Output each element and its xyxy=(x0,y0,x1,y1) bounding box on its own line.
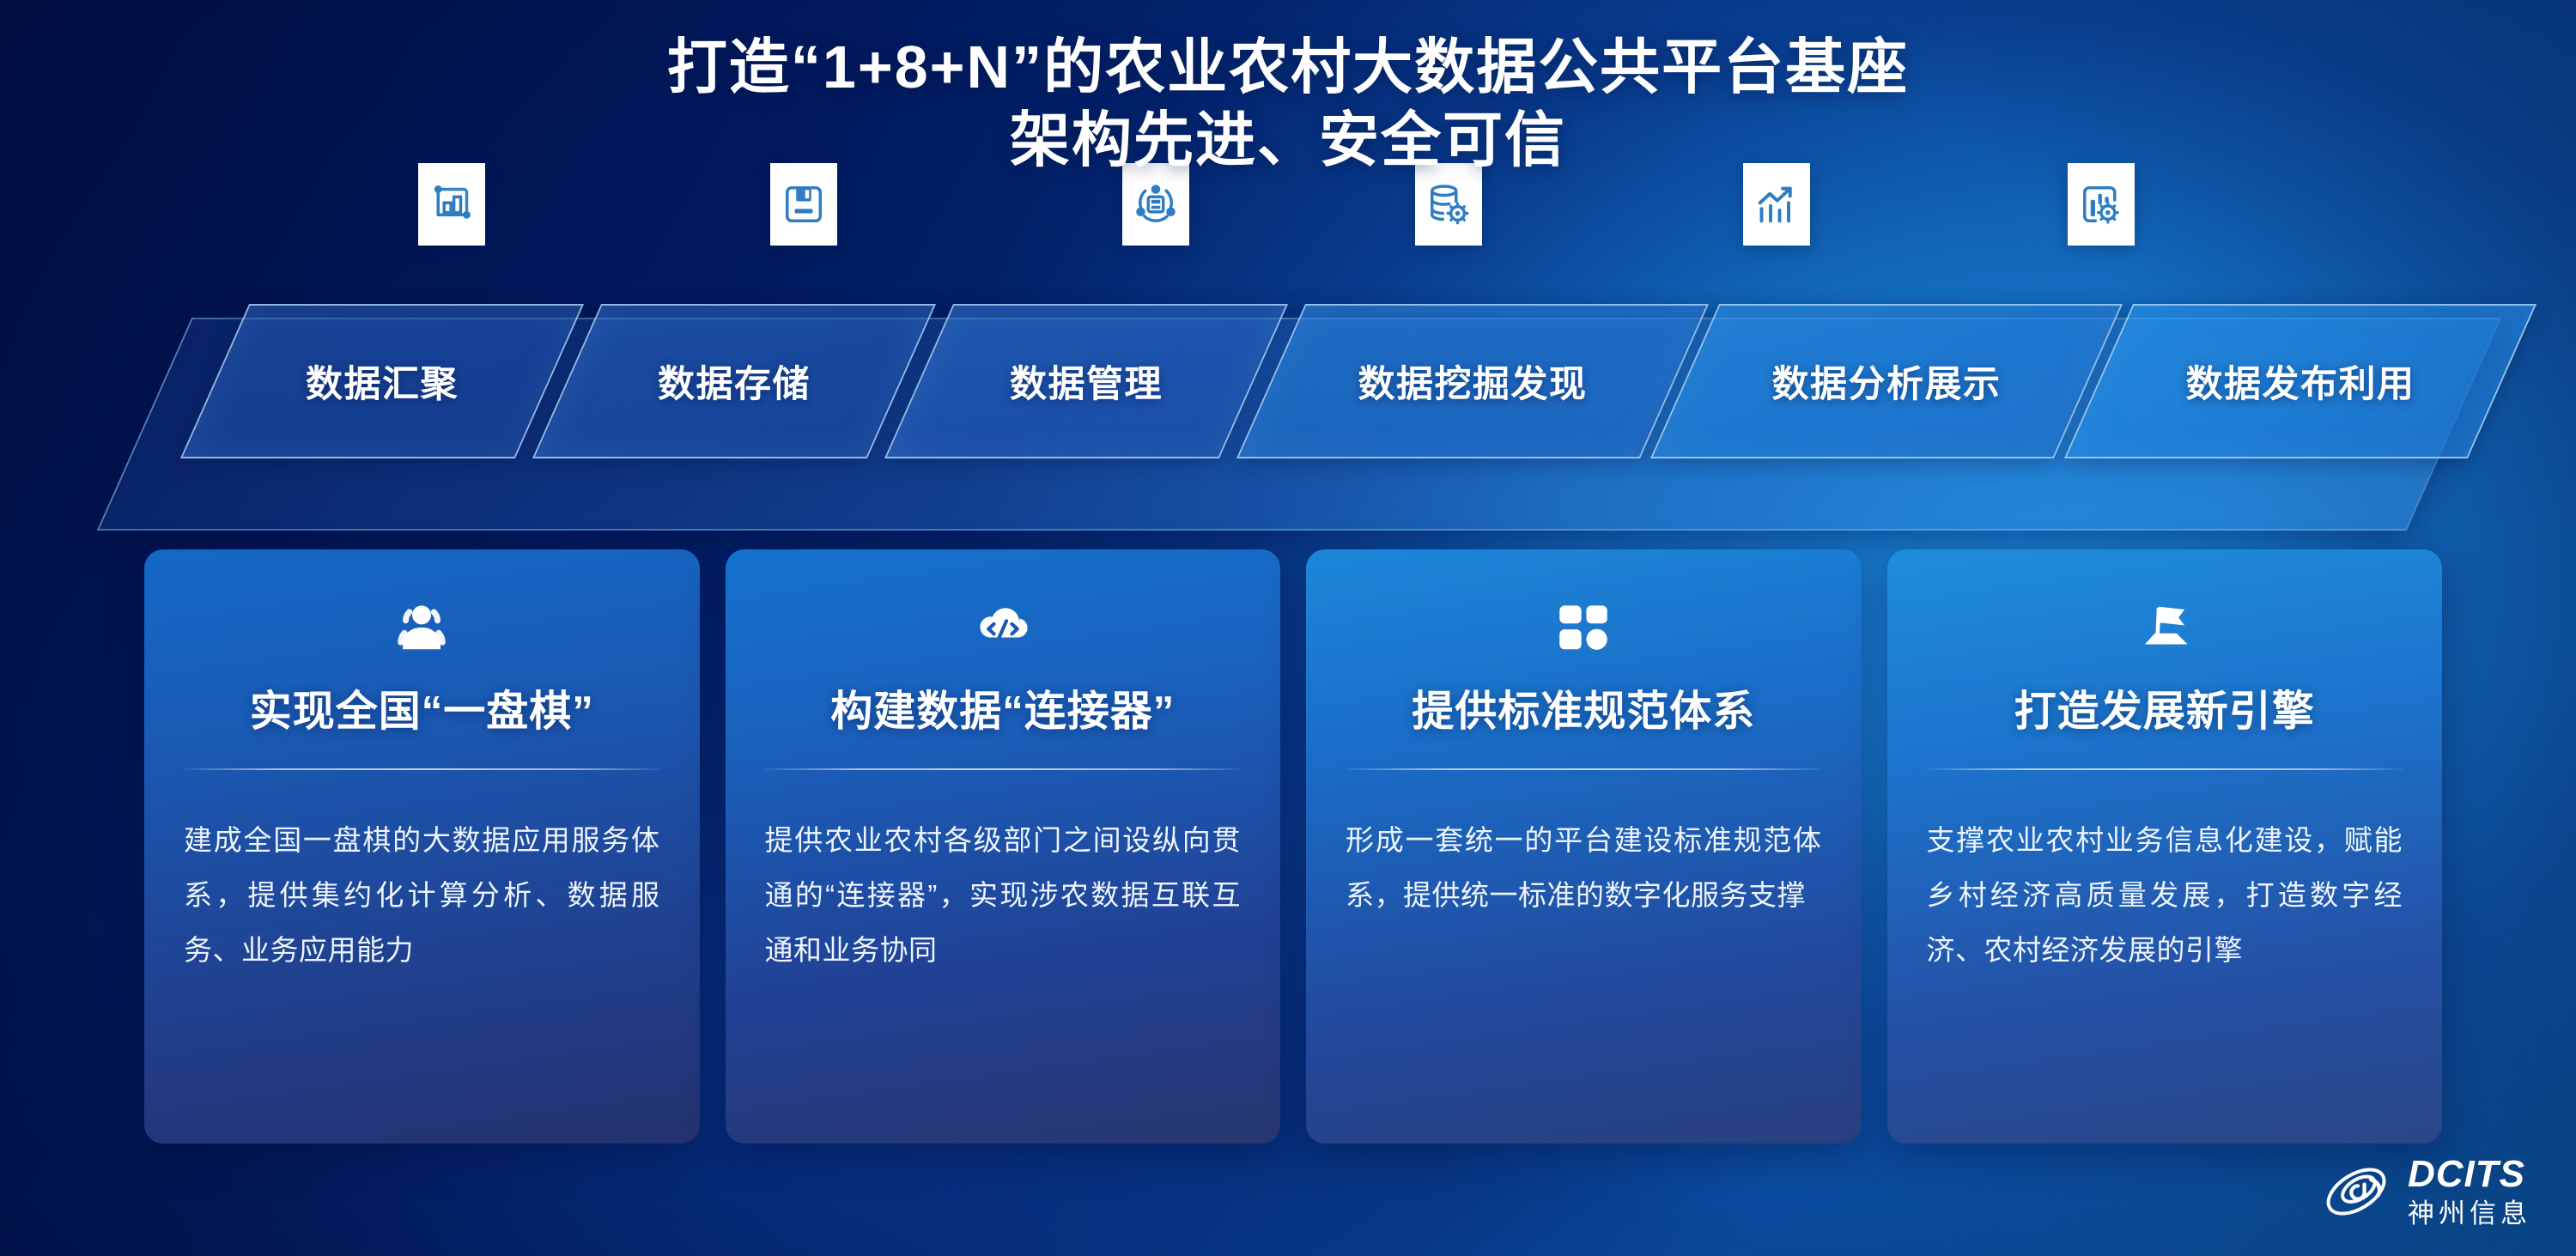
people-icon xyxy=(184,594,660,663)
card-title: 实现全国“一盘棋” xyxy=(184,687,660,737)
title-line-2: 架构先进、安全可信 xyxy=(0,104,2576,177)
card-body: 提供农业农村各级部门之间设纵向贯通的“连接器”，实现涉农数据互联互通和业务协同 xyxy=(765,813,1242,979)
pipeline-stage-list: 数据汇聚 数据存储 数据管理 xyxy=(0,273,2576,548)
benefit-card-standards[interactable]: 提供标准规范体系 形成一套统一的平台建设标准规范体系，提供统一标准的数字化服务支… xyxy=(1306,549,1862,1144)
pipeline-ribbon: 数据汇聚 数据存储 数据管理 xyxy=(0,273,2576,548)
company-logo: DCITS 神州信息 xyxy=(2320,1156,2531,1227)
pipeline-stage-data-publishing[interactable]: 数据发布利用 xyxy=(2064,304,2537,458)
pipeline-stage-data-management[interactable]: 数据管理 xyxy=(884,304,1288,458)
grid-blocks-icon xyxy=(1346,594,1822,663)
pipeline-stage-label: 数据汇聚 xyxy=(216,306,548,457)
benefit-card-growth-engine[interactable]: 打造发展新引擎 支撑农业农村业务信息化建设，赋能乡村经济高质量发展，打造数字经济… xyxy=(1887,549,2443,1144)
card-body: 建成全国一盘棋的大数据应用服务体系，提供集约化计算分析、数据服务、业务应用能力 xyxy=(184,813,660,979)
title-line-1: 打造“1+8+N”的农业农村大数据公共平台基座 xyxy=(0,31,2576,104)
pipeline-stage-data-analysis[interactable]: 数据分析展示 xyxy=(1650,304,2123,458)
benefit-card-national-chess[interactable]: 实现全国“一盘棋” 建成全国一盘棋的大数据应用服务体系，提供集约化计算分析、数据… xyxy=(144,549,700,1144)
pipeline-stage-label: 数据挖掘发现 xyxy=(1273,306,1673,457)
card-divider xyxy=(184,768,660,770)
pipeline-stage-data-aggregation[interactable]: 数据汇聚 xyxy=(180,304,584,458)
pipeline-stage-label: 数据分析展示 xyxy=(1686,306,2087,457)
page-title: 打造“1+8+N”的农业农村大数据公共平台基座 架构先进、安全可信 xyxy=(0,31,2576,178)
benefit-card-list: 实现全国“一盘棋” 建成全国一盘棋的大数据应用服务体系，提供集约化计算分析、数据… xyxy=(144,549,2442,1144)
cloud-code-icon xyxy=(765,594,1242,663)
logo-en-text: DCITS xyxy=(2408,1156,2531,1193)
flag-icon xyxy=(1927,594,2403,663)
pipeline-stage-label: 数据管理 xyxy=(920,306,1252,457)
card-title: 打造发展新引擎 xyxy=(1927,687,2403,737)
card-title: 构建数据“连接器” xyxy=(765,687,1242,737)
pipeline-stage-data-mining[interactable]: 数据挖掘发现 xyxy=(1236,304,1709,458)
pipeline-stage-label: 数据发布利用 xyxy=(2100,306,2500,457)
pipeline-stage-data-storage[interactable]: 数据存储 xyxy=(532,304,936,458)
dcits-swirl-icon xyxy=(2320,1159,2394,1224)
card-divider xyxy=(765,768,1242,770)
card-title: 提供标准规范体系 xyxy=(1346,687,1822,737)
logo-cn-text: 神州信息 xyxy=(2408,1200,2531,1227)
card-body: 形成一套统一的平台建设标准规范体系，提供统一标准的数字化服务支撑 xyxy=(1346,813,1822,924)
pipeline-stage-label: 数据存储 xyxy=(568,306,900,457)
benefit-card-data-connector[interactable]: 构建数据“连接器” 提供农业农村各级部门之间设纵向贯通的“连接器”，实现涉农数据… xyxy=(726,549,1281,1144)
card-body: 支撑农业农村业务信息化建设，赋能乡村经济高质量发展，打造数字经济、农村经济发展的… xyxy=(1927,813,2403,979)
card-divider xyxy=(1927,768,2403,770)
card-divider xyxy=(1346,768,1822,770)
